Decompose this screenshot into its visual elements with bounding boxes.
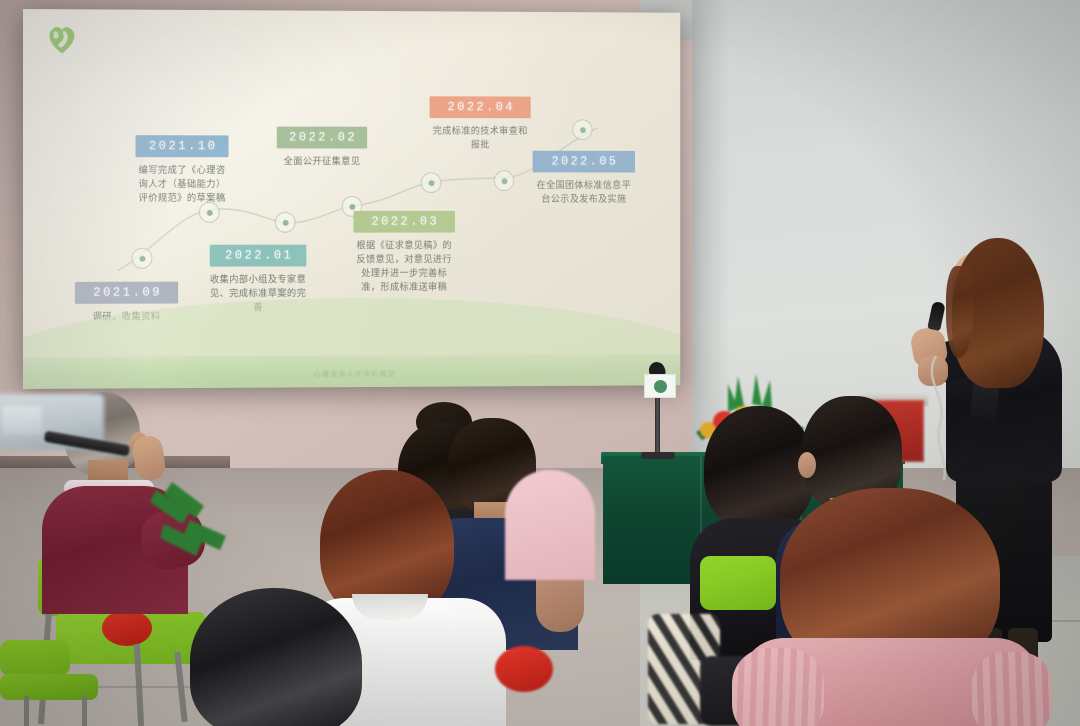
- timeline-desc: 完成标准的技术审查和报批: [430, 124, 531, 152]
- chair-leg-1: [24, 696, 29, 726]
- decorative-leaves: [150, 480, 230, 570]
- chair-leg-2: [82, 696, 87, 726]
- green-chair-front-left[interactable]: [0, 640, 130, 726]
- microphone-name-card: [644, 374, 676, 398]
- timeline-date-badge: 2021.10: [136, 135, 229, 157]
- microphone-base: [641, 452, 675, 459]
- timeline-node-3: [275, 212, 296, 233]
- timeline-date-badge: 2022.05: [533, 151, 635, 173]
- timeline-node-2: [199, 202, 220, 223]
- audience-person-pink-shirt-back: [505, 470, 595, 580]
- timeline-node-7: [572, 119, 592, 140]
- timeline-node-1: [132, 248, 153, 269]
- timeline-date-badge: 2021.09: [75, 282, 178, 304]
- handheld-microphone: [927, 301, 946, 331]
- timeline-date-badge: 2022.01: [210, 245, 307, 267]
- audience-man-dark-hair-foreground: [190, 588, 380, 726]
- timeline-node-6: [494, 170, 514, 191]
- timeline-node-5: [421, 172, 441, 193]
- timeline-item-2022-04: 2022.04 完成标准的技术审查和报批: [430, 96, 531, 151]
- timeline-date-badge: 2022.03: [353, 211, 455, 233]
- timeline-desc: 在全国团体标准信息平台公示及发布及实施: [533, 178, 635, 206]
- man-hand-on-face: [131, 434, 167, 482]
- projection-screen: 2021.09 调研、收集资料 2021.10 编写完成了《心理咨询人才（基础能…: [23, 9, 680, 389]
- chair-red-pad-center: [495, 646, 553, 692]
- timeline-item-2021-10: 2021.10 编写完成了《心理咨询人才（基础能力）评价规范》的草案稿: [136, 135, 229, 205]
- timeline-date-badge: 2022.04: [430, 96, 531, 118]
- timeline-item-2022-05: 2022.05 在全国团体标准信息平台公示及发布及实施: [533, 151, 635, 206]
- timeline-desc: 全面公开征集意见: [277, 154, 367, 168]
- timeline-item-2022-02: 2022.02 全面公开征集意见: [277, 127, 367, 169]
- audience-woman-pink-blouse: [740, 488, 1040, 726]
- dark-hair-head: [190, 588, 362, 726]
- emblem-icon: [654, 380, 667, 393]
- pink-blouse-sleeve-left: [732, 648, 824, 726]
- timeline-date-badge: 2022.02: [277, 127, 367, 149]
- chair-backrest: [0, 640, 70, 676]
- projector-lens-icon: [2, 406, 42, 434]
- pink-blouse-sleeve-right: [972, 652, 1052, 726]
- timeline-item-2022-03: 2022.03 根据《征求意见稿》的反馈意见，对意见进行处理并进一步完善标准，形…: [353, 211, 455, 294]
- photo-scene: 2021.09 调研、收集资料 2021.10 编写完成了《心理咨询人才（基础能…: [0, 0, 1080, 726]
- right-man-ear: [798, 452, 816, 478]
- timeline-desc: 编写完成了《心理咨询人才（基础能力）评价规范》的草案稿: [136, 163, 229, 205]
- pink-shirt-body: [505, 470, 595, 580]
- timeline-desc: 根据《征求意见稿》的反馈意见，对意见进行处理并进一步完善标准，形成标准送审稿: [353, 238, 455, 294]
